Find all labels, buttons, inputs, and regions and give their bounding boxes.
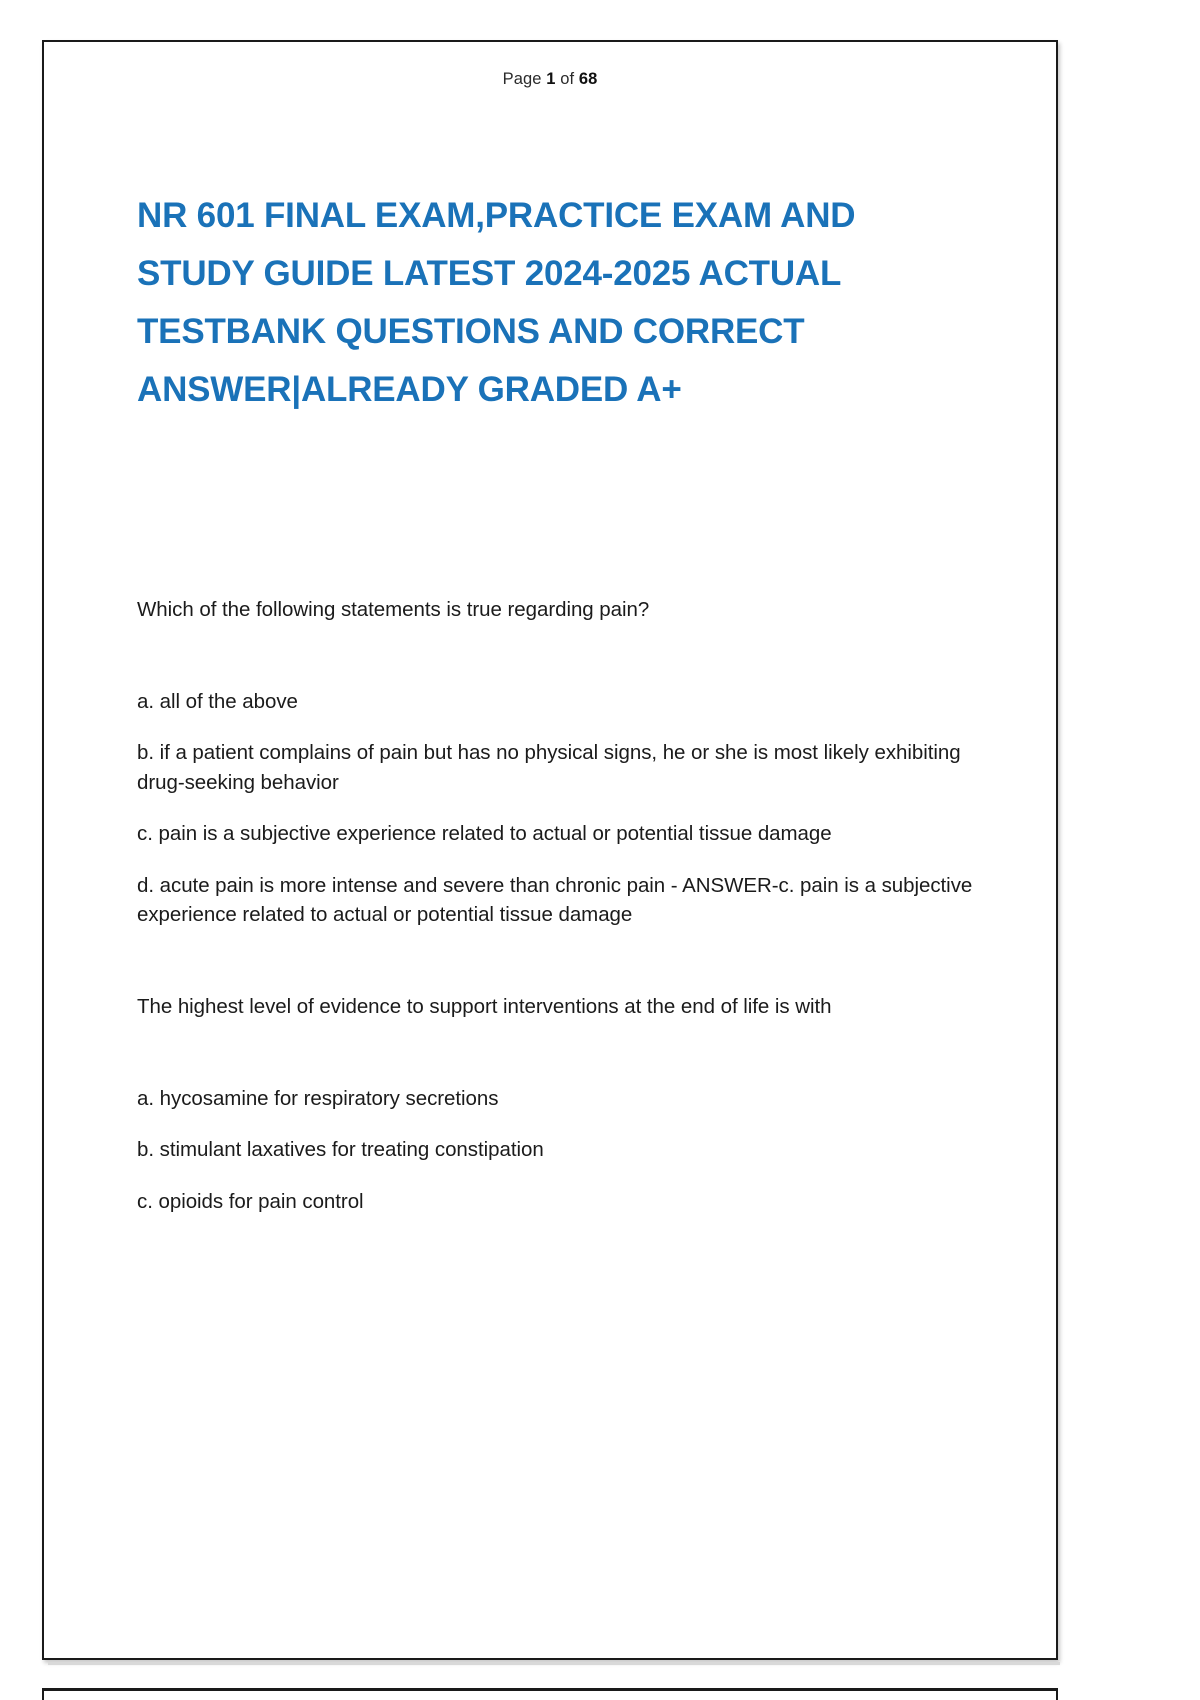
next-page-top-edge: [42, 1688, 1058, 1700]
page-bottom-edge: [48, 1662, 1060, 1665]
page-content: NR 601 FINAL EXAM,PRACTICE EXAM AND STUD…: [137, 187, 987, 1238]
page-indicator-total: 68: [579, 70, 598, 88]
answer-option-b: b. if a patient complains of pain but ha…: [137, 738, 987, 797]
answer-option-c: c. pain is a subjective experience relat…: [137, 819, 987, 849]
page-indicator-middle: of: [560, 70, 574, 88]
page-indicator-current: 1: [546, 70, 555, 88]
page-indicator: Page 1 of 68: [44, 70, 1056, 89]
spacer: [137, 625, 987, 687]
answer-option-c: c. opioids for pain control: [137, 1187, 987, 1217]
answer-option-a: a. hycosamine for respiratory secretions: [137, 1084, 987, 1114]
spacer: [137, 952, 987, 992]
answer-option-b: b. stimulant laxatives for treating cons…: [137, 1135, 987, 1165]
question-block-2: The highest level of evidence to support…: [137, 992, 987, 1216]
spacer: [137, 1022, 987, 1084]
page-indicator-prefix: Page: [503, 70, 542, 88]
question-stem: Which of the following statements is tru…: [137, 595, 987, 625]
document-viewer: Page 1 of 68 NR 601 FINAL EXAM,PRACTICE …: [0, 0, 1200, 1700]
document-title: NR 601 FINAL EXAM,PRACTICE EXAM AND STUD…: [137, 187, 937, 419]
document-page: Page 1 of 68 NR 601 FINAL EXAM,PRACTICE …: [42, 40, 1058, 1660]
answer-option-d: d. acute pain is more intense and severe…: [137, 871, 987, 930]
question-block-1: Which of the following statements is tru…: [137, 595, 987, 930]
answer-option-a: a. all of the above: [137, 687, 987, 717]
question-stem: The highest level of evidence to support…: [137, 992, 987, 1022]
